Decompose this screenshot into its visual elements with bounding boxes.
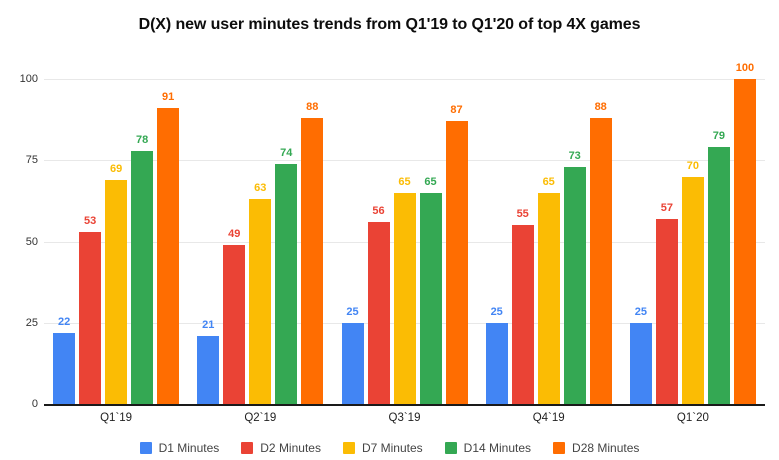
bar-value-label: 87 <box>434 105 480 116</box>
bar[interactable] <box>223 245 245 404</box>
bar-value-label: 88 <box>578 102 624 113</box>
legend-swatch-icon <box>445 442 457 454</box>
bar[interactable] <box>590 118 612 404</box>
legend-label: D14 Minutes <box>464 441 531 455</box>
bar[interactable] <box>157 108 179 404</box>
bar[interactable] <box>249 199 271 404</box>
x-axis-tick-label: Q2`19 <box>200 412 320 424</box>
bar[interactable] <box>446 121 468 404</box>
bar[interactable] <box>197 336 219 404</box>
legend-item[interactable]: D28 Minutes <box>553 441 639 455</box>
bar-group: 2253697891 <box>53 79 179 404</box>
bar-value-label: 91 <box>145 92 191 103</box>
legend-label: D1 Minutes <box>159 441 220 455</box>
legend-label: D28 Minutes <box>572 441 639 455</box>
x-axis-tick-label: Q4`19 <box>489 412 609 424</box>
bar-group: 2149637488 <box>197 79 323 404</box>
bar[interactable] <box>79 232 101 404</box>
legend-swatch-icon <box>140 442 152 454</box>
bar[interactable] <box>342 323 364 404</box>
bar[interactable] <box>53 333 75 405</box>
legend-swatch-icon <box>553 442 565 454</box>
bar-value-label: 88 <box>289 102 335 113</box>
x-axis-tick-label: Q1`20 <box>633 412 753 424</box>
y-axis-tick-label: 25 <box>4 318 38 329</box>
bar[interactable] <box>512 225 534 404</box>
x-axis-tick-label: Q1`19 <box>56 412 176 424</box>
bar[interactable] <box>368 222 390 404</box>
legend-item[interactable]: D2 Minutes <box>241 441 321 455</box>
y-axis-tick-label: 50 <box>4 237 38 248</box>
bar[interactable] <box>682 177 704 405</box>
bar-value-label: 100 <box>722 63 768 74</box>
legend-item[interactable]: D1 Minutes <box>140 441 220 455</box>
y-axis: 0255075100 <box>0 79 38 404</box>
bar[interactable] <box>131 151 153 405</box>
bar[interactable] <box>105 180 127 404</box>
x-axis-baseline <box>44 404 765 406</box>
bar[interactable] <box>301 118 323 404</box>
y-axis-tick-label: 0 <box>4 399 38 410</box>
bar[interactable] <box>275 164 297 405</box>
bar[interactable] <box>734 79 756 404</box>
bar[interactable] <box>486 323 508 404</box>
bar[interactable] <box>564 167 586 404</box>
bar[interactable] <box>394 193 416 404</box>
y-axis-tick-label: 100 <box>4 74 38 85</box>
legend-swatch-icon <box>343 442 355 454</box>
bar-group: 2556656587 <box>342 79 468 404</box>
plot-area: 2253697891214963748825566565872555657388… <box>44 79 765 404</box>
bar-group: 2555657388 <box>486 79 612 404</box>
chart-legend: D1 MinutesD2 MinutesD7 MinutesD14 Minute… <box>0 441 779 455</box>
bar[interactable] <box>656 219 678 404</box>
bar[interactable] <box>538 193 560 404</box>
legend-swatch-icon <box>241 442 253 454</box>
bar[interactable] <box>420 193 442 404</box>
bar-chart-figure: D(X) new user minutes trends from Q1'19 … <box>0 0 779 460</box>
bar[interactable] <box>708 147 730 404</box>
chart-title: D(X) new user minutes trends from Q1'19 … <box>0 16 779 34</box>
legend-label: D7 Minutes <box>362 441 423 455</box>
bar[interactable] <box>630 323 652 404</box>
bar-group: 25577079100 <box>630 79 756 404</box>
legend-item[interactable]: D7 Minutes <box>343 441 423 455</box>
x-axis-tick-label: Q3`19 <box>345 412 465 424</box>
y-axis-tick-label: 75 <box>4 155 38 166</box>
legend-item[interactable]: D14 Minutes <box>445 441 531 455</box>
legend-label: D2 Minutes <box>260 441 321 455</box>
